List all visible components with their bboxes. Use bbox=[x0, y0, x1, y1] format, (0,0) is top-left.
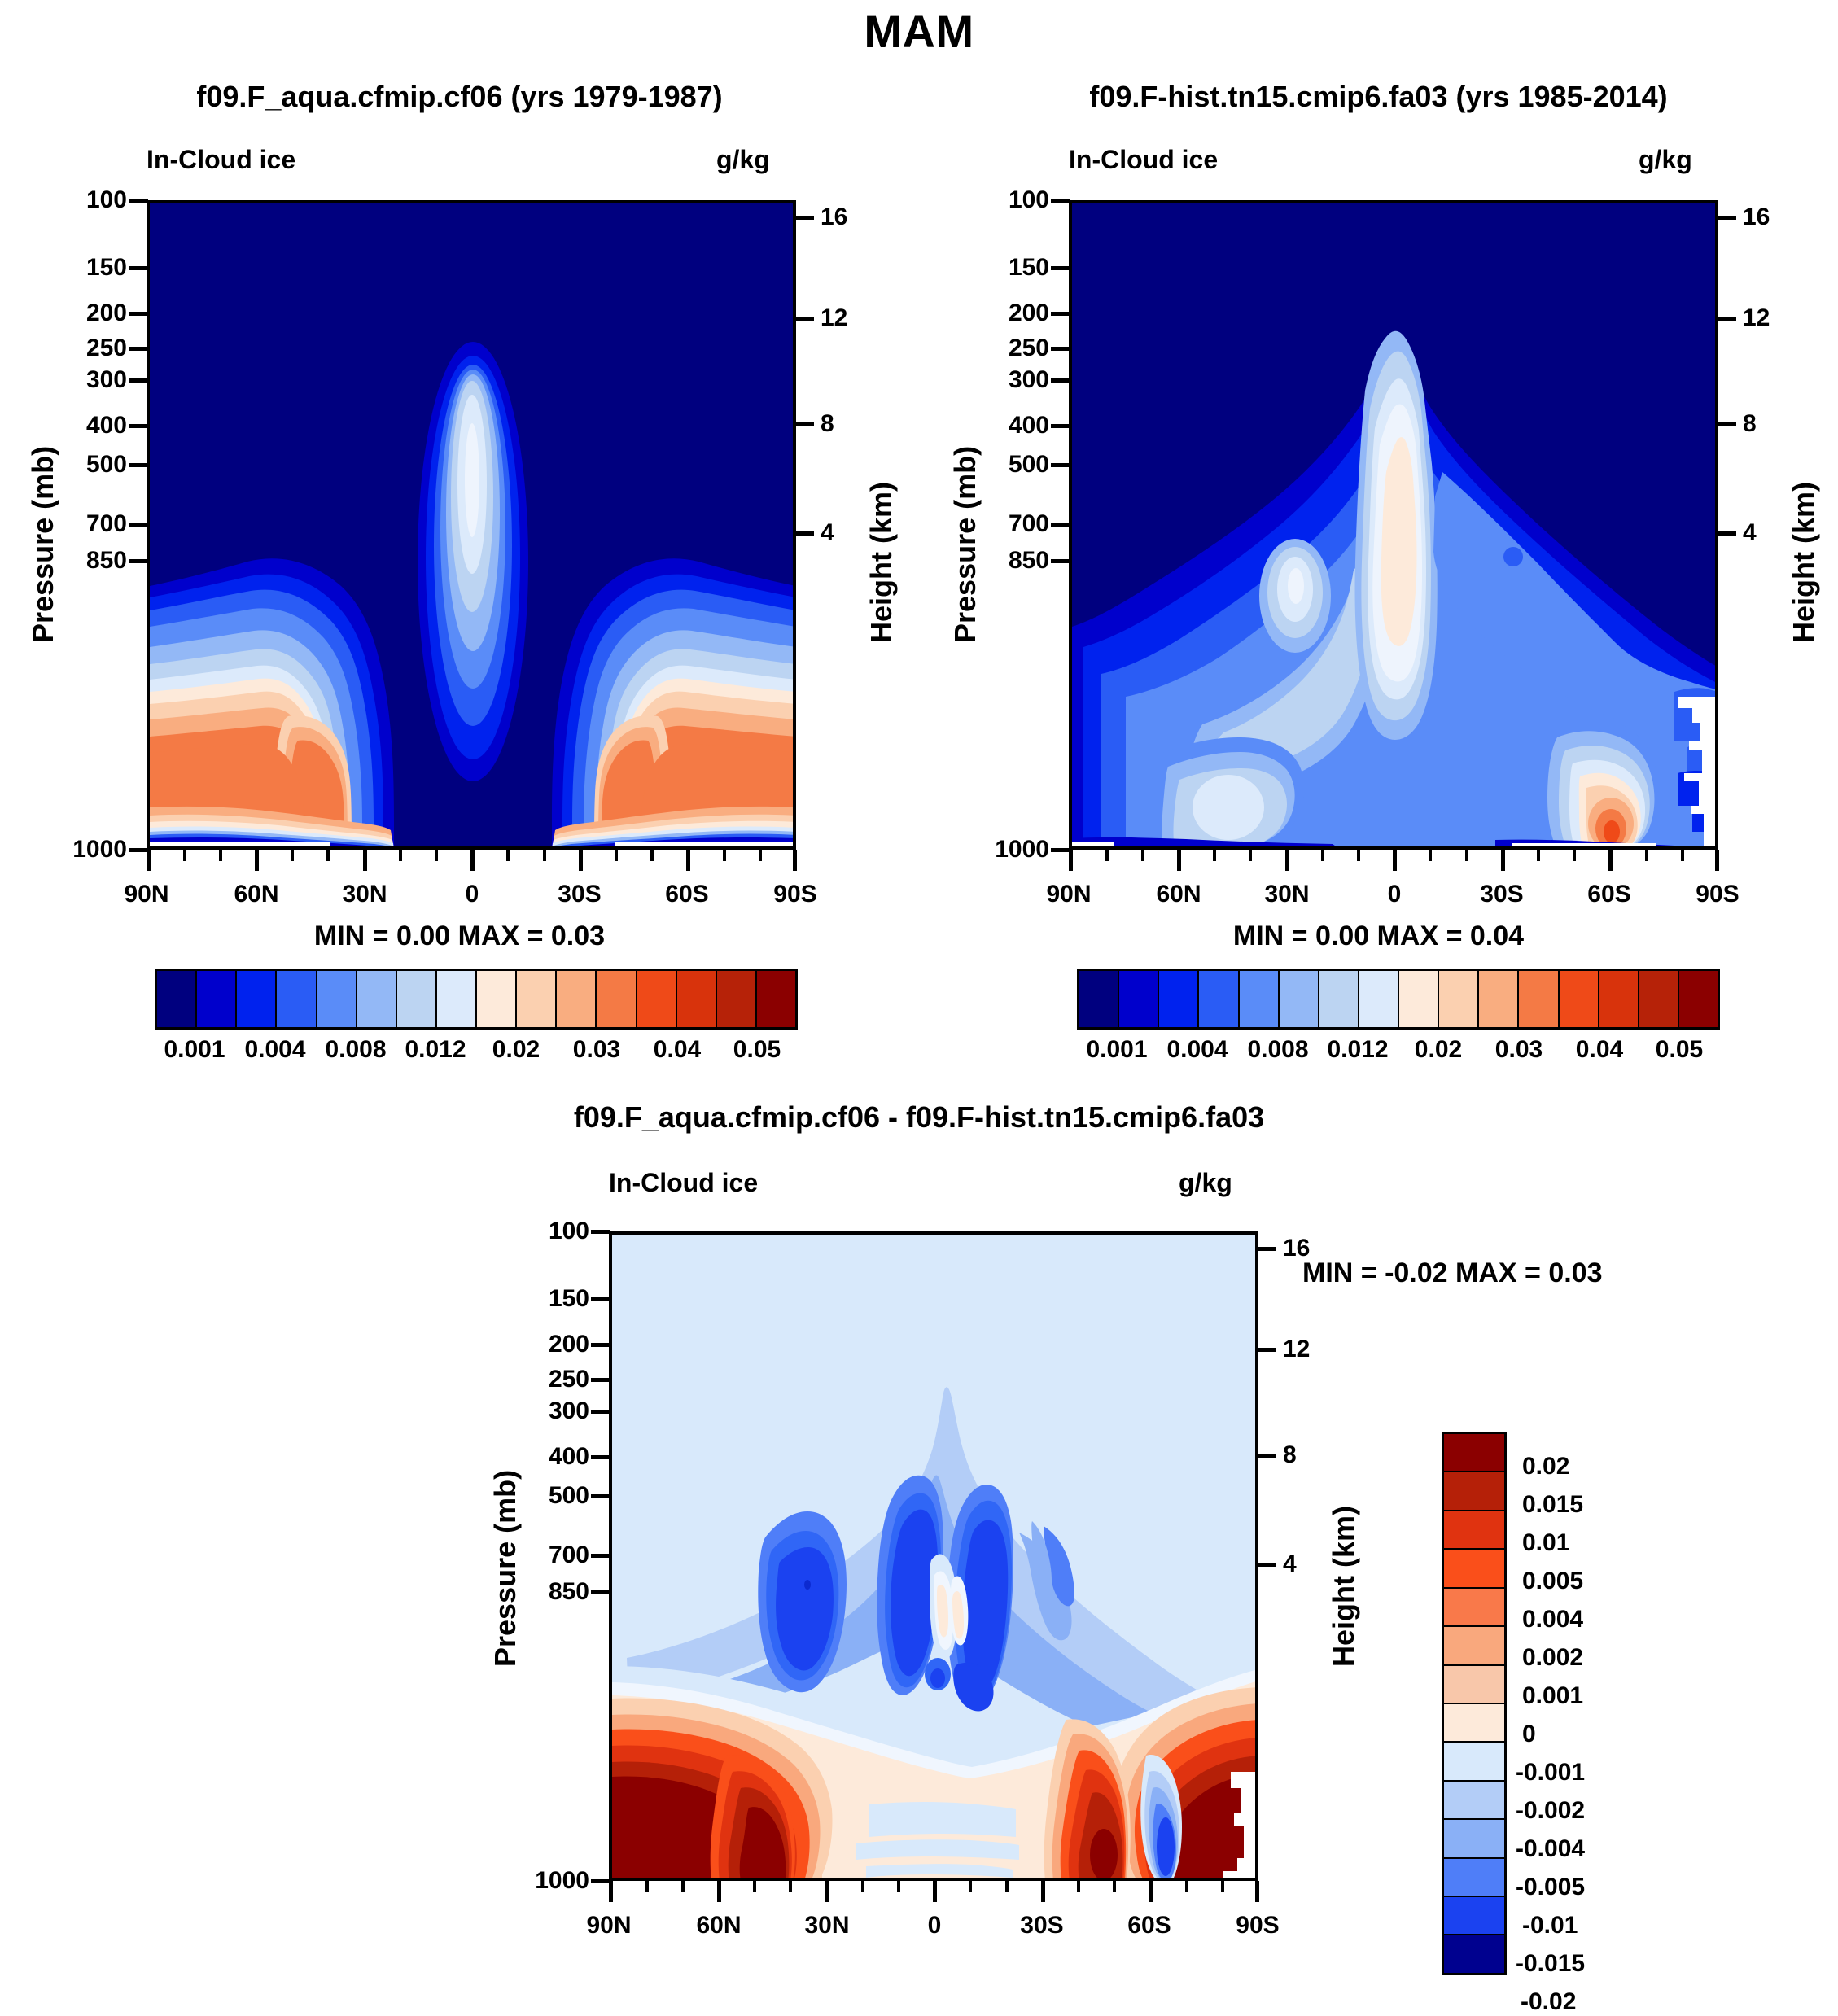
diverging-colorbar-label-7: 0 bbox=[1522, 1721, 1536, 1748]
panel-top-left-ylabel-left: Pressure (mb) bbox=[26, 446, 60, 643]
colorbar-cell bbox=[1199, 971, 1239, 1027]
ytick-mark bbox=[129, 347, 148, 351]
xtick-60S: 60S bbox=[1569, 881, 1650, 908]
ytick-pressure-1000: 1000 bbox=[973, 836, 1049, 864]
xtick-mark-major bbox=[793, 850, 797, 871]
colorbar-cell bbox=[1240, 971, 1280, 1027]
ytick-height-12: 12 bbox=[1283, 1336, 1310, 1363]
colorbar-cell bbox=[157, 971, 197, 1027]
colorbar-cell bbox=[357, 971, 397, 1027]
panel-top-left: f09.F_aqua.cfmip.cf06 (yrs 1979-1987) In… bbox=[0, 0, 919, 1082]
ytick-pressure-850: 850 bbox=[70, 547, 127, 575]
panel-top-right-variable-label: In-Cloud ice bbox=[1069, 145, 1218, 175]
xtick-mark-minor bbox=[1105, 850, 1109, 861]
xtick-mark-minor bbox=[1005, 1881, 1009, 1892]
ytick-pressure-700: 700 bbox=[70, 510, 127, 538]
ytick-pressure-400: 400 bbox=[70, 412, 127, 439]
ytick-pressure-250: 250 bbox=[532, 1366, 589, 1393]
xtick-mark-minor bbox=[645, 1881, 649, 1892]
xtick-mark-minor bbox=[650, 850, 654, 861]
xtick-mark-minor bbox=[1213, 850, 1216, 861]
colorbar-cell bbox=[1439, 971, 1479, 1027]
xtick-mark-minor bbox=[1141, 850, 1144, 861]
ytick-mark bbox=[591, 1455, 610, 1459]
colorbar-cell bbox=[637, 971, 677, 1027]
diverging-colorbar-label-8: -0.001 bbox=[1516, 1759, 1585, 1786]
ytick-pressure-100: 100 bbox=[70, 186, 127, 214]
diverging-colorbar-label-0: 0.02 bbox=[1522, 1453, 1569, 1480]
panel-top-right-colorbar[interactable] bbox=[1077, 969, 1720, 1030]
colorbar-cell bbox=[1479, 971, 1519, 1027]
ytick-height-mark bbox=[794, 531, 814, 536]
ytick-height-8: 8 bbox=[1283, 1441, 1297, 1469]
ytick-height-mark bbox=[1717, 216, 1736, 220]
ytick-height-mark bbox=[794, 422, 814, 426]
xtick-mark-minor bbox=[861, 1881, 864, 1892]
xtick-mark-minor bbox=[723, 850, 726, 861]
colorbar-cell bbox=[1119, 971, 1159, 1027]
ytick-height-12: 12 bbox=[1743, 304, 1770, 332]
xtick-mark-major bbox=[825, 1881, 829, 1902]
diverging-colorbar-label-10: -0.004 bbox=[1516, 1835, 1585, 1863]
ytick-pressure-100: 100 bbox=[992, 186, 1049, 214]
xtick-mark-major bbox=[609, 1881, 613, 1902]
ytick-mark bbox=[591, 1343, 610, 1347]
panel-top-left-plot-area[interactable] bbox=[147, 200, 796, 850]
diverging-colorbar-label-12: -0.01 bbox=[1522, 1912, 1578, 1939]
xtick-30N: 30N bbox=[1246, 881, 1328, 908]
panel-top-right-plot-area[interactable] bbox=[1069, 200, 1718, 850]
colorbar-cell bbox=[1444, 1859, 1504, 1897]
ytick-pressure-100: 100 bbox=[532, 1218, 589, 1245]
colorbar-cell bbox=[1444, 1704, 1504, 1743]
colorbar-cell bbox=[1159, 971, 1199, 1027]
xtick-60N: 60N bbox=[1138, 881, 1219, 908]
colorbar-cell bbox=[597, 971, 637, 1027]
ytick-pressure-700: 700 bbox=[532, 1542, 589, 1569]
xtick-0: 0 bbox=[431, 881, 513, 908]
xtick-mark-minor bbox=[789, 1881, 792, 1892]
xtick-mark-minor bbox=[1645, 850, 1648, 861]
ytick-mark bbox=[1051, 559, 1070, 563]
xtick-mark-minor bbox=[435, 850, 438, 861]
colorbar-cell bbox=[197, 971, 237, 1027]
ytick-height-4: 4 bbox=[821, 519, 834, 547]
xtick-mark-minor bbox=[219, 850, 222, 861]
xtick-90N: 90N bbox=[106, 881, 187, 908]
colorbar-cell bbox=[757, 971, 795, 1027]
ytick-height-4: 4 bbox=[1283, 1550, 1297, 1578]
colorbar-cell bbox=[1560, 971, 1599, 1027]
diverging-colorbar-label-4: 0.004 bbox=[1522, 1606, 1583, 1633]
colorbar-cell bbox=[1639, 971, 1679, 1027]
diverging-colorbar-label-6: 0.001 bbox=[1522, 1682, 1583, 1710]
xtick-mark-major bbox=[1041, 1881, 1045, 1902]
colorbar-cell bbox=[1444, 1472, 1504, 1511]
ytick-pressure-150: 150 bbox=[532, 1285, 589, 1313]
panel-bottom-ylabel-right: Height (km) bbox=[1327, 1506, 1361, 1667]
ytick-height-16: 16 bbox=[821, 203, 847, 231]
diverging-colorbar-label-3: 0.005 bbox=[1522, 1568, 1583, 1595]
ytick-mark bbox=[129, 463, 148, 467]
ytick-mark bbox=[129, 266, 148, 270]
colorbar-label-7: 0.05 bbox=[1598, 1036, 1761, 1064]
xtick-90S: 90S bbox=[1217, 1912, 1298, 1939]
colorbar-cell bbox=[1444, 1820, 1504, 1858]
ytick-pressure-200: 200 bbox=[992, 300, 1049, 327]
ytick-pressure-700: 700 bbox=[992, 510, 1049, 538]
panel-top-left-colorbar[interactable] bbox=[155, 969, 798, 1030]
ytick-mark bbox=[129, 559, 148, 563]
panel-top-right: f09.F-hist.tn15.cmip6.fa03 (yrs 1985-201… bbox=[919, 0, 1838, 1082]
xtick-mark-major bbox=[1608, 850, 1613, 871]
panel-bottom-units-label: g/kg bbox=[1179, 1168, 1232, 1198]
xtick-mark-minor bbox=[1681, 850, 1684, 861]
ytick-mark bbox=[591, 1879, 610, 1883]
xtick-mark-minor bbox=[399, 850, 402, 861]
diverging-colorbar-label-2: 0.01 bbox=[1522, 1529, 1569, 1557]
ytick-height-8: 8 bbox=[821, 410, 834, 438]
xtick-30S: 30S bbox=[1001, 1912, 1083, 1939]
xtick-mark-major bbox=[1149, 1881, 1153, 1902]
xtick-mark-minor bbox=[1185, 1881, 1188, 1892]
ytick-mark bbox=[1051, 378, 1070, 383]
panel-top-right-title: f09.F-hist.tn15.cmip6.fa03 (yrs 1985-201… bbox=[919, 80, 1838, 114]
ytick-pressure-500: 500 bbox=[532, 1482, 589, 1510]
panel-bottom-contour-svg bbox=[612, 1235, 1258, 1881]
ytick-pressure-850: 850 bbox=[992, 547, 1049, 575]
xtick-mark-major bbox=[1393, 850, 1397, 871]
panel-top-right-contour-svg bbox=[1072, 203, 1718, 850]
ytick-pressure-400: 400 bbox=[992, 412, 1049, 439]
panel-bottom-ylabel-left: Pressure (mb) bbox=[488, 1470, 523, 1667]
xtick-mark-major bbox=[1285, 850, 1289, 871]
ytick-mark bbox=[1051, 266, 1070, 270]
colorbar-cell bbox=[1444, 1627, 1504, 1665]
panel-top-right-units-label: g/kg bbox=[1639, 145, 1692, 175]
panel-top-left-units-label: g/kg bbox=[716, 145, 770, 175]
ytick-height-mark bbox=[1257, 1563, 1276, 1567]
panel-bottom-minmax: MIN = -0.02 MAX = 0.03 bbox=[1302, 1257, 1603, 1289]
panel-bottom-title: f09.F_aqua.cfmip.cf06 - f09.F-hist.tn15.… bbox=[0, 1100, 1838, 1135]
colorbar-cell bbox=[1444, 1743, 1504, 1781]
colorbar-label-7: 0.05 bbox=[676, 1036, 838, 1064]
panel-top-right-ylabel-right: Height (km) bbox=[1787, 482, 1821, 643]
panel-top-left-title: f09.F_aqua.cfmip.cf06 (yrs 1979-1987) bbox=[0, 80, 919, 114]
panel-bottom-plot-area[interactable] bbox=[609, 1231, 1258, 1881]
colorbar-cell bbox=[1444, 1935, 1504, 1972]
ytick-mark bbox=[1051, 347, 1070, 351]
xtick-mark-major bbox=[147, 850, 151, 871]
xtick-30N: 30N bbox=[786, 1912, 868, 1939]
xtick-mark-minor bbox=[969, 1881, 972, 1892]
colorbar-cell bbox=[1519, 971, 1559, 1027]
ytick-mark bbox=[591, 1554, 610, 1558]
xtick-mark-minor bbox=[759, 850, 762, 861]
xtick-90N: 90N bbox=[1028, 881, 1109, 908]
colorbar-cell bbox=[237, 971, 277, 1027]
diverging-colorbar-label-9: -0.002 bbox=[1516, 1797, 1585, 1825]
ytick-height-mark bbox=[1257, 1454, 1276, 1458]
colorbar-cell bbox=[1679, 971, 1718, 1027]
ytick-pressure-200: 200 bbox=[70, 300, 127, 327]
ytick-pressure-150: 150 bbox=[70, 254, 127, 282]
ytick-mark bbox=[591, 1590, 610, 1594]
colorbar-cell bbox=[717, 971, 757, 1027]
ytick-mark bbox=[591, 1297, 610, 1301]
ytick-mark bbox=[591, 1230, 610, 1234]
xtick-mark-minor bbox=[1113, 1881, 1116, 1892]
colorbar-cell bbox=[557, 971, 597, 1027]
ytick-height-8: 8 bbox=[1743, 410, 1757, 438]
ytick-mark bbox=[591, 1494, 610, 1498]
xtick-60N: 60N bbox=[216, 881, 297, 908]
xtick-mark-major bbox=[1255, 1881, 1259, 1902]
colorbar-cell bbox=[1444, 1511, 1504, 1550]
xtick-mark-minor bbox=[753, 1881, 756, 1892]
ytick-mark bbox=[591, 1410, 610, 1414]
colorbar-cell bbox=[1444, 1897, 1504, 1935]
ytick-mark bbox=[1051, 523, 1070, 527]
xtick-30S: 30S bbox=[539, 881, 620, 908]
ytick-mark bbox=[1051, 424, 1070, 428]
xtick-mark-major bbox=[579, 850, 583, 871]
xtick-mark-major bbox=[933, 1881, 937, 1902]
ytick-height-mark bbox=[794, 216, 814, 220]
xtick-mark-minor bbox=[291, 850, 294, 861]
ytick-mark bbox=[591, 1378, 610, 1382]
ytick-height-4: 4 bbox=[1743, 519, 1757, 547]
xtick-mark-minor bbox=[1537, 850, 1540, 861]
panel-top-left-minmax: MIN = 0.00 MAX = 0.03 bbox=[0, 921, 919, 952]
xtick-mark-minor bbox=[1321, 850, 1324, 861]
ytick-pressure-200: 200 bbox=[532, 1331, 589, 1358]
xtick-mark-minor bbox=[1465, 850, 1468, 861]
colorbar-cell bbox=[437, 971, 477, 1027]
ytick-pressure-300: 300 bbox=[992, 366, 1049, 394]
colorbar-cell bbox=[1399, 971, 1439, 1027]
xtick-mark-minor bbox=[1249, 850, 1252, 861]
colorbar-cell bbox=[1280, 971, 1319, 1027]
ytick-height-mark bbox=[794, 317, 814, 321]
ytick-mark bbox=[129, 424, 148, 428]
ytick-height-mark bbox=[1717, 317, 1736, 321]
xtick-60S: 60S bbox=[1109, 1912, 1190, 1939]
colorbar-cell bbox=[677, 971, 717, 1027]
xtick-mark-major bbox=[255, 850, 259, 871]
ytick-height-mark bbox=[1257, 1247, 1276, 1251]
ytick-mark bbox=[129, 312, 148, 316]
colorbar-cell bbox=[1444, 1589, 1504, 1627]
ytick-height-mark bbox=[1717, 422, 1736, 426]
xtick-mark-minor bbox=[543, 850, 546, 861]
xtick-mark-minor bbox=[1573, 850, 1576, 861]
xtick-mark-minor bbox=[681, 1881, 685, 1892]
xtick-mark-minor bbox=[897, 1881, 900, 1892]
ytick-pressure-250: 250 bbox=[992, 335, 1049, 362]
xtick-mark-major bbox=[1177, 850, 1181, 871]
ytick-mark bbox=[1051, 848, 1070, 852]
ytick-mark bbox=[129, 378, 148, 383]
ytick-pressure-850: 850 bbox=[532, 1578, 589, 1606]
xtick-90S: 90S bbox=[755, 881, 836, 908]
ytick-height-mark bbox=[1257, 1348, 1276, 1352]
colorbar-cell bbox=[1444, 1550, 1504, 1588]
panel-bottom-colorbar[interactable] bbox=[1442, 1432, 1507, 1975]
colorbar-cell bbox=[477, 971, 517, 1027]
ytick-pressure-500: 500 bbox=[992, 451, 1049, 479]
xtick-mark-minor bbox=[506, 850, 510, 861]
colorbar-cell bbox=[1079, 971, 1119, 1027]
ytick-pressure-500: 500 bbox=[70, 451, 127, 479]
xtick-mark-major bbox=[363, 850, 367, 871]
panel-top-right-ylabel-left: Pressure (mb) bbox=[948, 446, 982, 643]
xtick-mark-major bbox=[470, 850, 475, 871]
ytick-height-mark bbox=[1717, 531, 1736, 536]
xtick-mark-minor bbox=[326, 850, 330, 861]
xtick-90S: 90S bbox=[1677, 881, 1758, 908]
colorbar-cell bbox=[1599, 971, 1639, 1027]
xtick-mark-minor bbox=[1221, 1881, 1224, 1892]
xtick-mark-major bbox=[1715, 850, 1719, 871]
ytick-mark bbox=[129, 848, 148, 852]
diverging-colorbar-label-5: 0.002 bbox=[1522, 1644, 1583, 1672]
ytick-mark bbox=[1051, 463, 1070, 467]
colorbar-cell bbox=[1359, 971, 1399, 1027]
xtick-mark-minor bbox=[615, 850, 618, 861]
colorbar-cell bbox=[397, 971, 437, 1027]
xtick-mark-minor bbox=[1357, 850, 1360, 861]
panel-top-left-ylabel-right: Height (km) bbox=[864, 482, 899, 643]
diverging-colorbar-label-1: 0.015 bbox=[1522, 1491, 1583, 1519]
colorbar-cell bbox=[1319, 971, 1359, 1027]
diverging-colorbar-label-14: -0.02 bbox=[1521, 1988, 1576, 2016]
ytick-mark bbox=[129, 523, 148, 527]
xtick-mark-minor bbox=[1429, 850, 1432, 861]
panel-bottom-diff: f09.F_aqua.cfmip.cf06 - f09.F-hist.tn15.… bbox=[0, 1082, 1838, 1939]
xtick-30S: 30S bbox=[1461, 881, 1543, 908]
colorbar-cell bbox=[517, 971, 557, 1027]
diverging-colorbar-label-13: -0.015 bbox=[1516, 1950, 1585, 1978]
ytick-mark bbox=[129, 199, 148, 203]
xtick-60N: 60N bbox=[678, 1912, 759, 1939]
panel-top-left-contour-svg bbox=[150, 203, 796, 850]
ytick-mark bbox=[1051, 312, 1070, 316]
panel-bottom-variable-label: In-Cloud ice bbox=[609, 1168, 758, 1198]
ytick-height-16: 16 bbox=[1743, 203, 1770, 231]
xtick-mark-minor bbox=[1077, 1881, 1080, 1892]
xtick-60S: 60S bbox=[646, 881, 728, 908]
ytick-pressure-150: 150 bbox=[992, 254, 1049, 282]
ytick-pressure-1000: 1000 bbox=[513, 1867, 589, 1895]
diverging-colorbar-label-11: -0.005 bbox=[1516, 1874, 1585, 1901]
ytick-mark bbox=[1051, 199, 1070, 203]
ytick-height-12: 12 bbox=[821, 304, 847, 332]
xtick-mark-major bbox=[1069, 850, 1073, 871]
colorbar-cell bbox=[1444, 1666, 1504, 1704]
xtick-mark-major bbox=[1501, 850, 1505, 871]
panel-top-left-variable-label: In-Cloud ice bbox=[147, 145, 295, 175]
xtick-0: 0 bbox=[894, 1912, 975, 1939]
ytick-pressure-300: 300 bbox=[532, 1397, 589, 1425]
ytick-pressure-250: 250 bbox=[70, 335, 127, 362]
xtick-mark-minor bbox=[183, 850, 186, 861]
ytick-pressure-400: 400 bbox=[532, 1443, 589, 1471]
colorbar-cell bbox=[317, 971, 357, 1027]
colorbar-cell bbox=[1444, 1434, 1504, 1472]
panel-top-right-minmax: MIN = 0.00 MAX = 0.04 bbox=[919, 921, 1838, 952]
xtick-90N: 90N bbox=[568, 1912, 650, 1939]
xtick-0: 0 bbox=[1354, 881, 1435, 908]
ytick-pressure-300: 300 bbox=[70, 366, 127, 394]
colorbar-cell bbox=[1444, 1782, 1504, 1820]
xtick-mark-major bbox=[686, 850, 690, 871]
xtick-mark-major bbox=[717, 1881, 721, 1902]
colorbar-cell bbox=[277, 971, 317, 1027]
ytick-pressure-1000: 1000 bbox=[50, 836, 127, 864]
xtick-30N: 30N bbox=[324, 881, 405, 908]
